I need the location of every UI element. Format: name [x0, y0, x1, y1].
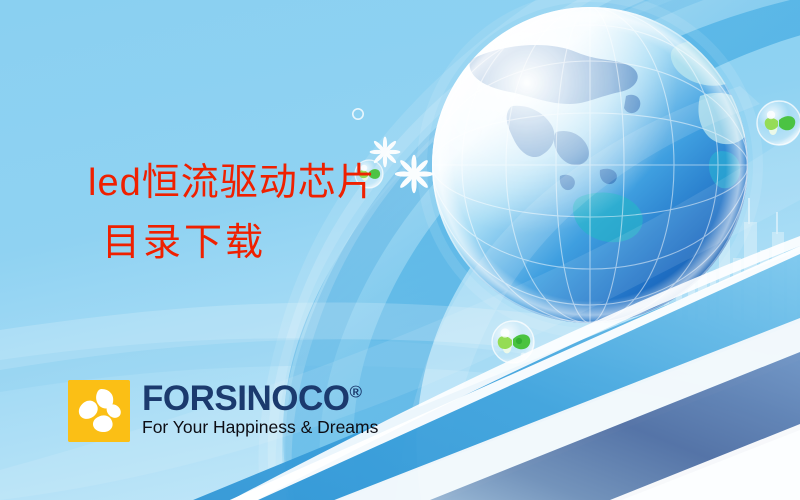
- headline-line-1: led恒流驱动芯片: [88, 164, 376, 202]
- headline-block: led恒流驱动芯片 目录下载: [88, 164, 376, 262]
- globe-grid: [432, 7, 748, 323]
- logo-tagline: For Your Happiness & Dreams: [142, 418, 378, 437]
- globe: [422, 0, 758, 333]
- logo-wordmark: FORSINOCO®: [142, 381, 378, 416]
- logo-wordmark-group: FORSINOCO® For Your Happiness & Dreams: [142, 380, 378, 437]
- forsinoco-flower-mark: [68, 380, 130, 442]
- ring-sparkle: [353, 109, 363, 119]
- ribbon-front-globe: [392, 86, 760, 500]
- promo-banner: led恒流驱动芯片 目录下载 FORSINOCO® For Your Happi…: [0, 0, 800, 500]
- headline-line-2: 目录下载: [102, 224, 376, 262]
- globe-continents-americas: [671, 38, 752, 188]
- company-logo: FORSINOCO® For Your Happiness & Dreams: [68, 380, 378, 442]
- registered-trademark-icon: ®: [349, 382, 361, 401]
- bubble-edge: [757, 101, 800, 145]
- band-hairline: [186, 236, 800, 500]
- logo-brand-text: FORSINOCO: [142, 379, 349, 418]
- corner-bands: [96, 246, 800, 500]
- bubble-medium: [492, 321, 534, 363]
- sparkle-flower-2: [395, 155, 433, 193]
- globe-continents: [470, 45, 643, 242]
- city-skyline: [600, 198, 797, 349]
